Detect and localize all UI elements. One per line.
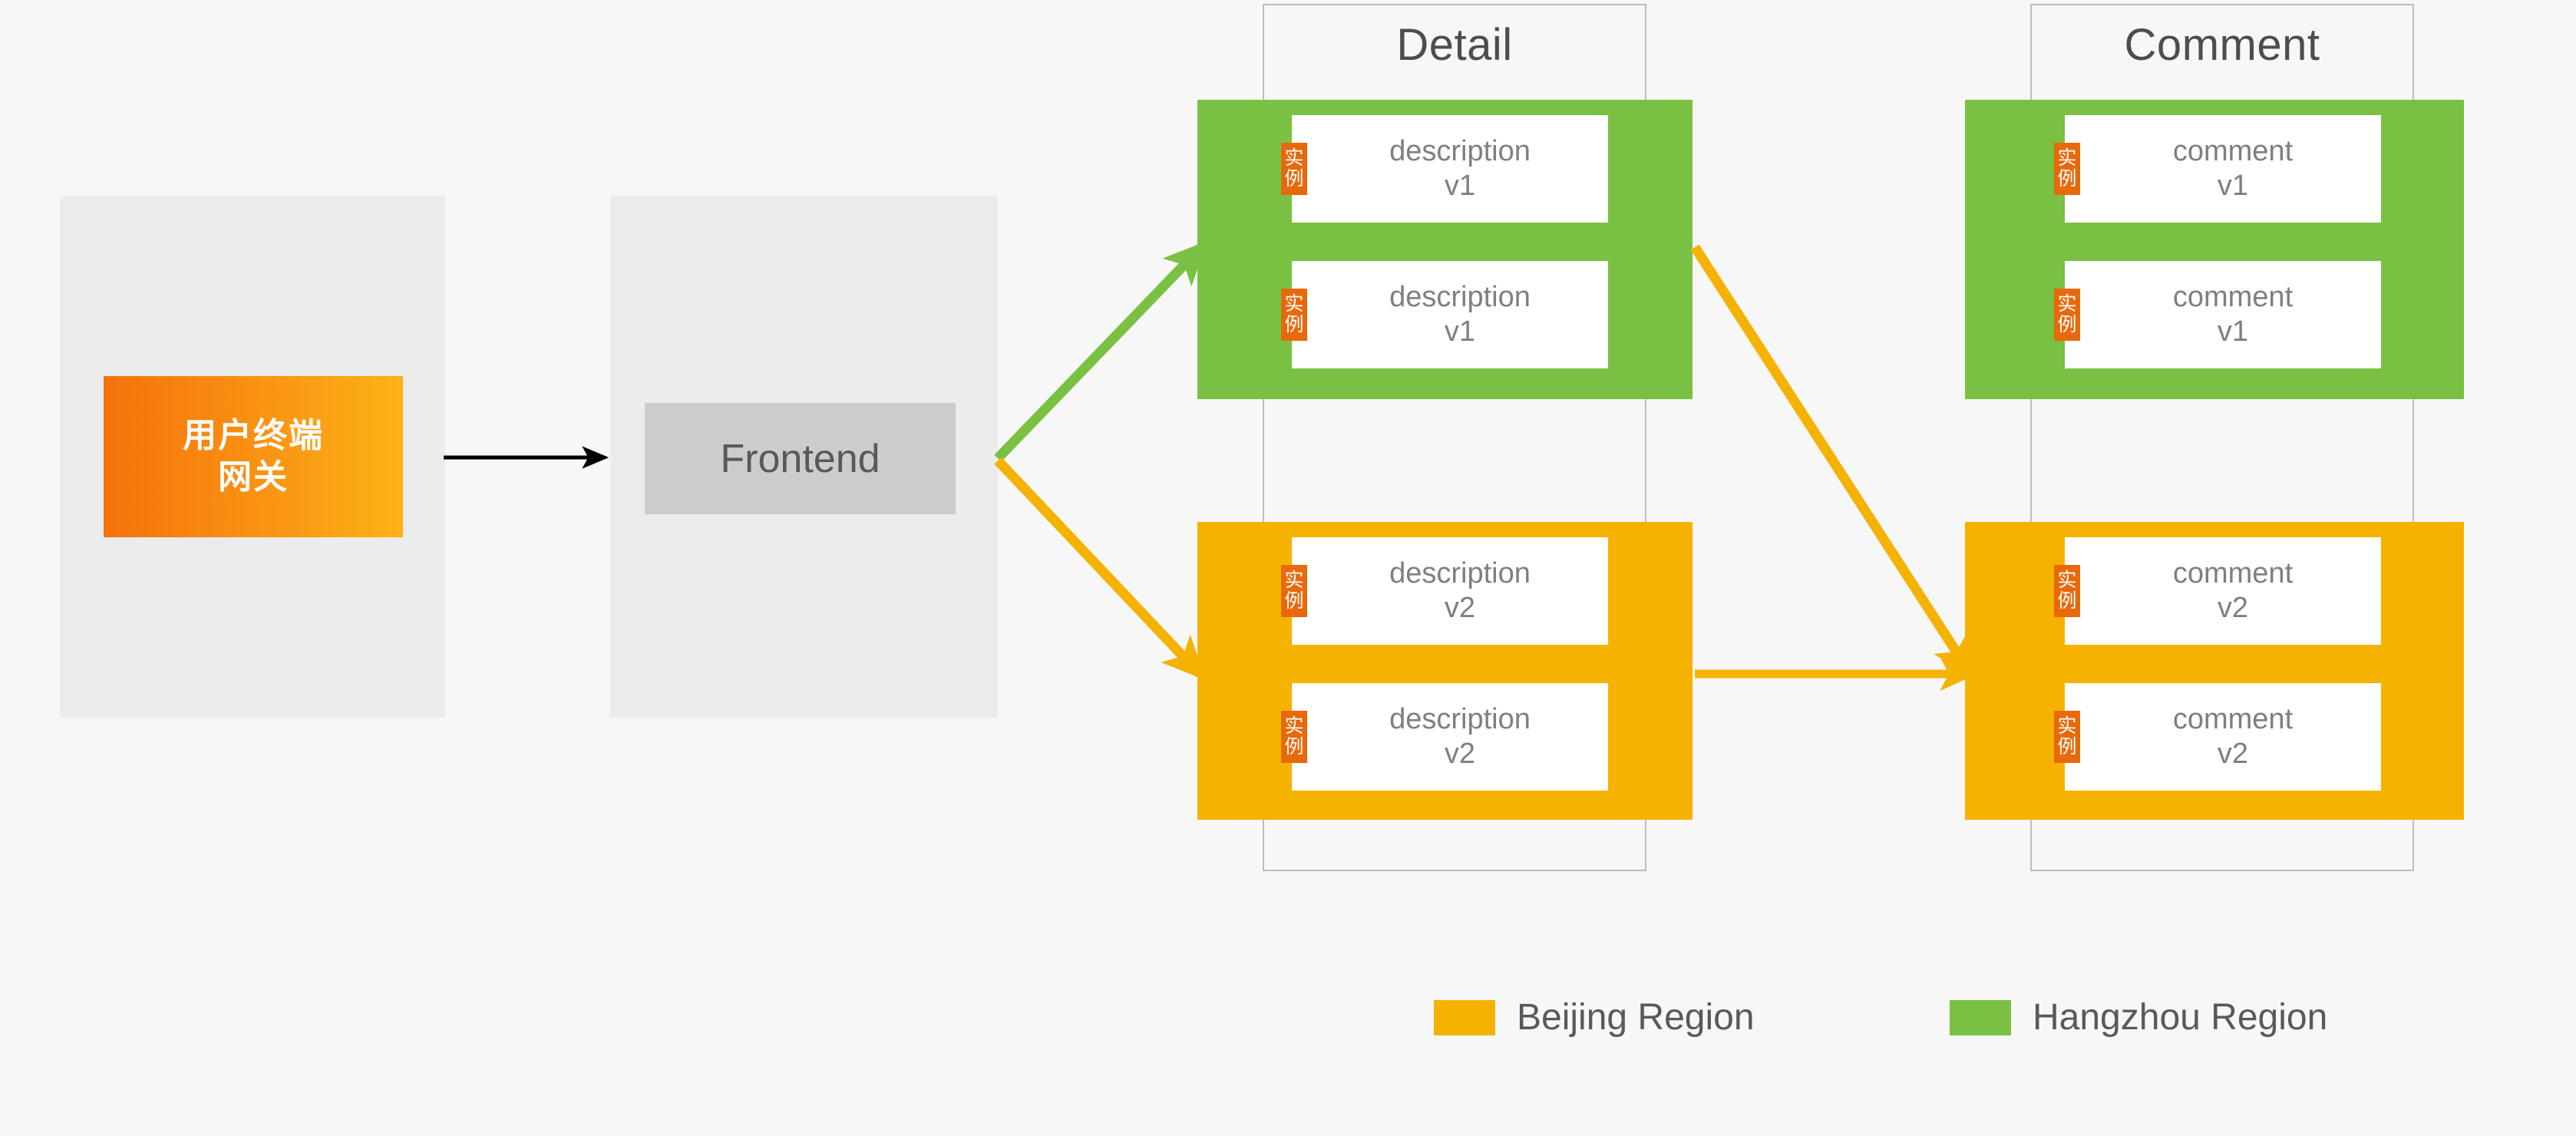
legend-label-beijing: Beijing Region [1517, 996, 1755, 1039]
legend-swatch-hangzhou [1950, 1000, 2011, 1035]
arrow-detail-hangzhou-to-comment-beijing [1695, 247, 1970, 672]
legend-item-beijing: Beijing Region [1434, 996, 1755, 1039]
diagram-canvas: 用户终端 网关 Frontend Detail 实 例 description … [0, 0, 2576, 1136]
arrow-frontend-to-detail-beijing [998, 461, 1200, 674]
arrow-frontend-to-detail-hangzhou [998, 247, 1201, 458]
legend-swatch-beijing [1434, 1000, 1495, 1035]
legend-label-hangzhou: Hangzhou Region [2033, 996, 2327, 1039]
arrow-layer [0, 0, 2576, 1136]
legend-item-hangzhou: Hangzhou Region [1950, 996, 2327, 1039]
